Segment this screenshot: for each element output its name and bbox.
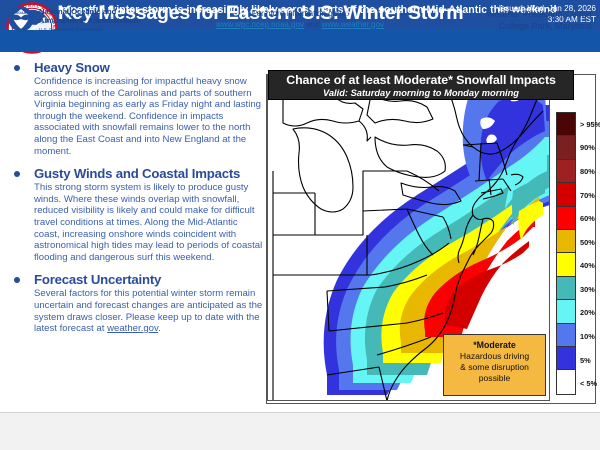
map-title: Chance of at least Moderate* Snowfall Im… (269, 73, 573, 88)
bullet-dot-icon (14, 277, 20, 283)
legend-label: 5% (580, 356, 591, 365)
legend-label: 80% (580, 167, 595, 176)
legend-label: 20% (580, 308, 595, 317)
legend-band-60 (557, 207, 575, 230)
key-message-forecast-uncertainty: Forecast Uncertainty Several factors for… (6, 272, 264, 334)
legend-band-95-over (557, 113, 575, 136)
bullet-body: Several factors for this potential winte… (34, 288, 264, 334)
key-message-gusty-winds: Gusty Winds and Coastal Impacts This str… (6, 166, 264, 263)
legend-label: < 5% (580, 379, 597, 388)
map-title-banner: Chance of at least Moderate* Snowfall Im… (268, 70, 574, 100)
moderate-callout-line1: Hazardous driving (444, 351, 545, 362)
probability-legend (556, 112, 576, 395)
moderate-callout-title: *Moderate (444, 340, 545, 351)
weather-gov-link[interactable]: weather.gov (107, 323, 158, 334)
key-messages-list: Heavy Snow Confidence is increasing for … (6, 60, 264, 408)
legend-label: > 95% (580, 120, 600, 129)
issuing-office-location: College Park, Maryland (486, 21, 592, 33)
legend-band-20 (557, 300, 575, 323)
bullet-body-period: . (158, 323, 161, 334)
bullet-dot-icon (14, 65, 20, 71)
legend-label: 60% (580, 214, 595, 223)
legend-band-40 (557, 253, 575, 276)
legend-label: 10% (580, 332, 595, 341)
footer-and: and (304, 20, 322, 29)
legend-band-70 (557, 183, 575, 206)
legend-label: 40% (580, 261, 595, 270)
issuing-office: Weather Prediction Center College Park, … (486, 9, 592, 32)
weather-gov-footer-link[interactable]: www.weather.gov (322, 20, 384, 29)
moderate-callout-line2: & some disruption (444, 362, 545, 373)
issuing-office-name: Weather Prediction Center (486, 9, 592, 21)
subheader-bar (0, 30, 600, 52)
wpc-link[interactable]: www.wpc.ncep.noaa.gov (216, 20, 304, 29)
bullet-heading: Heavy Snow (34, 60, 264, 75)
legend-band-5-under (557, 370, 575, 393)
legend-label: 70% (580, 191, 595, 200)
legend-band-10 (557, 324, 575, 347)
legend-band-30 (557, 277, 575, 300)
legend-band-90 (557, 136, 575, 159)
legend-band-50 (557, 230, 575, 253)
moderate-definition-callout: *Moderate Hazardous driving & some disru… (443, 334, 546, 396)
key-messages-graphic: N A T I O N A L W E A T H E R S E R V I … (0, 0, 600, 450)
legend-label: 30% (580, 285, 595, 294)
moderate-callout-line3: possible (444, 373, 545, 384)
legend-band-5 (557, 347, 575, 370)
bullet-dot-icon (14, 171, 20, 177)
map-valid-period: Valid: Saturday morning to Monday mornin… (269, 88, 573, 99)
probability-map-panel (266, 74, 596, 404)
bullet-heading: Gusty Winds and Coastal Impacts (34, 166, 264, 181)
footer-bar (0, 412, 600, 450)
key-message-heavy-snow: Heavy Snow Confidence is increasing for … (6, 60, 264, 157)
legend-label: 50% (580, 238, 595, 247)
bullet-body: Confidence is increasing for impactful h… (34, 76, 264, 157)
bullet-heading: Forecast Uncertainty (34, 272, 264, 287)
bullet-body: This strong storm system is likely to pr… (34, 182, 264, 263)
legend-label: 90% (580, 143, 595, 152)
legend-band-80 (557, 160, 575, 183)
